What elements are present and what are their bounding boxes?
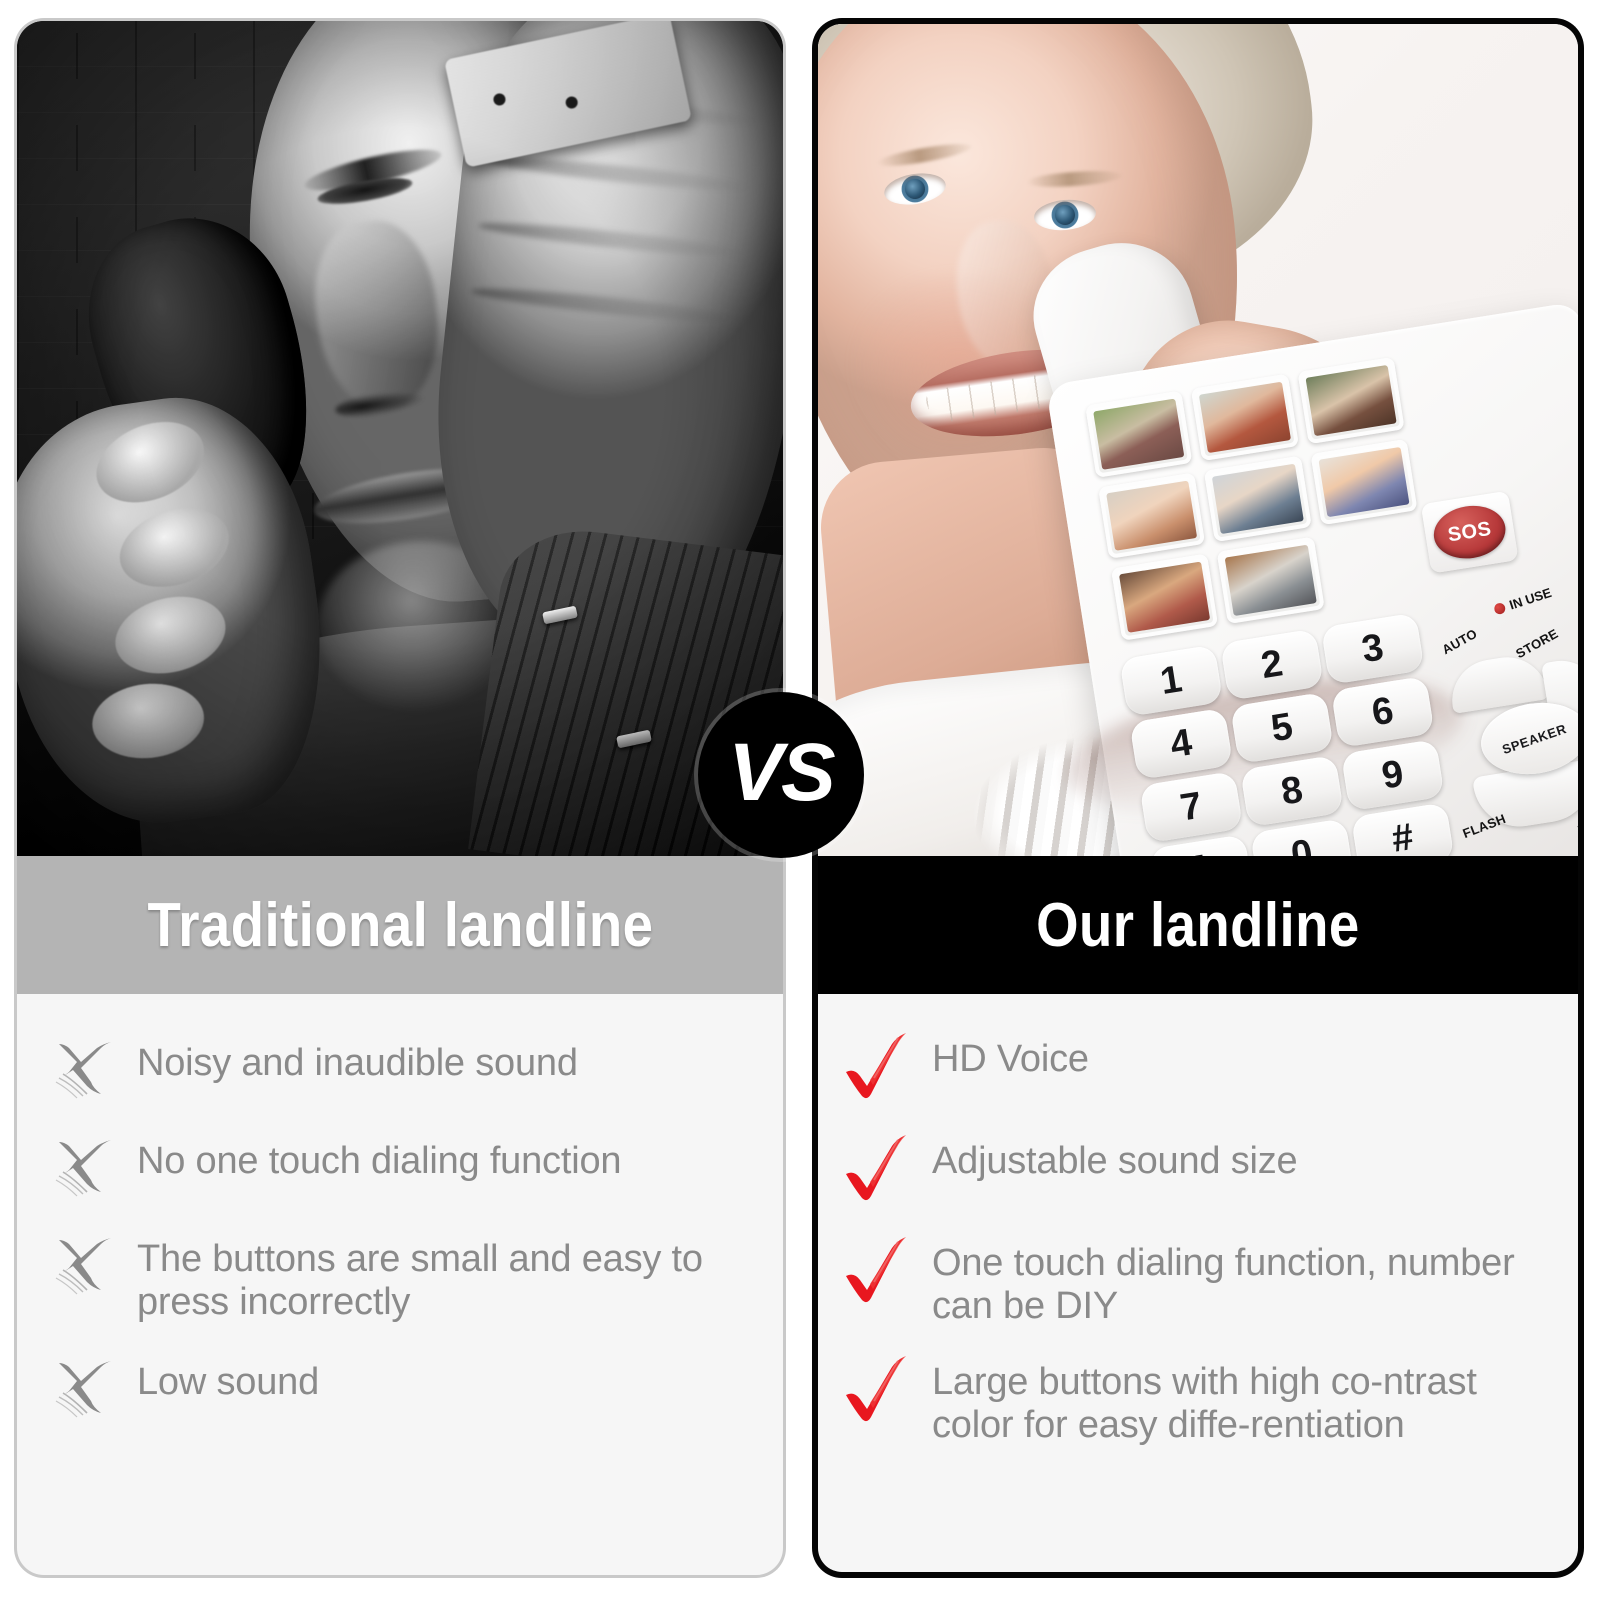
auto-label: AUTO [1439,626,1479,657]
in-use-label: IN USE [1507,585,1553,613]
flash-label: FLASH [1461,811,1508,841]
x-mark-icon [47,1134,121,1198]
traditional-landline-feature-list: Noisy and inaudible sound No one touch d… [14,994,786,1578]
x-mark-icon [47,1355,121,1419]
bw-photo-scene [17,21,783,856]
dial-key-8[interactable]: 8 [1240,755,1344,827]
list-item: Large buttons with high co-ntrast color … [840,1357,1544,1446]
our-landline-panel: SOS 1 2 3 4 5 6 7 8 9 ✱ 0 [812,18,1584,1578]
vs-badge: VS [698,692,864,858]
dial-key-2[interactable]: 2 [1220,629,1324,701]
x-mark-icon [47,1232,121,1296]
store-label: STORE [1513,626,1561,661]
list-item-label: HD Voice [932,1034,1089,1081]
sos-label: SOS [1446,517,1493,547]
list-item-label: Adjustable sound size [932,1136,1297,1183]
dial-key-6[interactable]: 6 [1331,676,1435,748]
sos-button[interactable]: SOS [1430,501,1509,564]
our-landline-title-bar: Our landline [812,856,1584,994]
photo-speed-dial-grid [1085,357,1430,641]
our-landline-title: Our landline [1036,890,1360,961]
vs-label: VS [728,732,833,814]
list-item: Low sound [47,1357,749,1421]
list-item-label: One touch dialing function, number can b… [932,1238,1544,1327]
list-item-label: Noisy and inaudible sound [137,1038,578,1085]
list-item: No one touch dialing function [47,1136,749,1200]
check-mark-icon [840,1032,912,1104]
speaker-label: SPEAKER [1501,720,1569,756]
x-mark-icon [47,1036,121,1100]
check-mark-icon [840,1134,912,1206]
list-item: Noisy and inaudible sound [47,1038,749,1102]
check-mark-icon [840,1355,912,1427]
photo-speed-dial-button[interactable] [1098,472,1205,559]
traditional-landline-title-bar: Traditional landline [14,856,786,994]
traditional-landline-title: Traditional landline [147,890,653,961]
list-item: Adjustable sound size [840,1136,1544,1208]
in-use-led-icon [1493,602,1507,616]
big-button-phone: SOS 1 2 3 4 5 6 7 8 9 ✱ 0 [1046,301,1584,856]
dial-key-3[interactable]: 3 [1321,613,1425,685]
our-landline-photo: SOS 1 2 3 4 5 6 7 8 9 ✱ 0 [812,18,1584,856]
our-landline-feature-list: HD Voice Adjustable sound size [812,994,1584,1578]
photo-speed-dial-button[interactable] [1191,374,1298,461]
sos-key-housing: SOS [1421,491,1519,574]
dial-key-hash[interactable]: # [1351,802,1455,856]
photo-speed-dial-button[interactable] [1217,537,1324,624]
color-photo-scene: SOS 1 2 3 4 5 6 7 8 9 ✱ 0 [818,24,1578,856]
photo-speed-dial-button[interactable] [1310,439,1418,526]
photo-speed-dial-button[interactable] [1111,554,1218,641]
photo-speed-dial-button[interactable] [1204,455,1311,542]
list-item-label: No one touch dialing function [137,1136,621,1183]
dial-key-1[interactable]: 1 [1119,645,1223,717]
comparison-board: Traditional landline Noisy and inaudible… [0,0,1600,1600]
photo-speed-dial-button[interactable] [1085,391,1192,478]
list-item: The buttons are small and easy to press … [47,1234,749,1323]
list-item-label: Low sound [137,1357,319,1404]
traditional-landline-photo [14,18,786,856]
list-item-label: Large buttons with high co-ntrast color … [932,1357,1544,1446]
check-mark-icon [840,1236,912,1308]
photo-speed-dial-button[interactable] [1297,357,1405,444]
list-item: One touch dialing function, number can b… [840,1238,1544,1327]
list-item: HD Voice [840,1034,1544,1106]
dial-key-4[interactable]: 4 [1129,708,1233,780]
traditional-landline-panel: Traditional landline Noisy and inaudible… [14,18,786,1578]
in-use-indicator: IN USE [1492,585,1553,618]
dial-pad: 1 2 3 4 5 6 7 8 9 ✱ 0 # [1119,613,1454,856]
list-item-label: The buttons are small and easy to press … [137,1234,749,1323]
dial-key-9[interactable]: 9 [1341,739,1445,811]
dial-key-5[interactable]: 5 [1230,692,1334,764]
dial-key-7[interactable]: 7 [1139,771,1243,843]
